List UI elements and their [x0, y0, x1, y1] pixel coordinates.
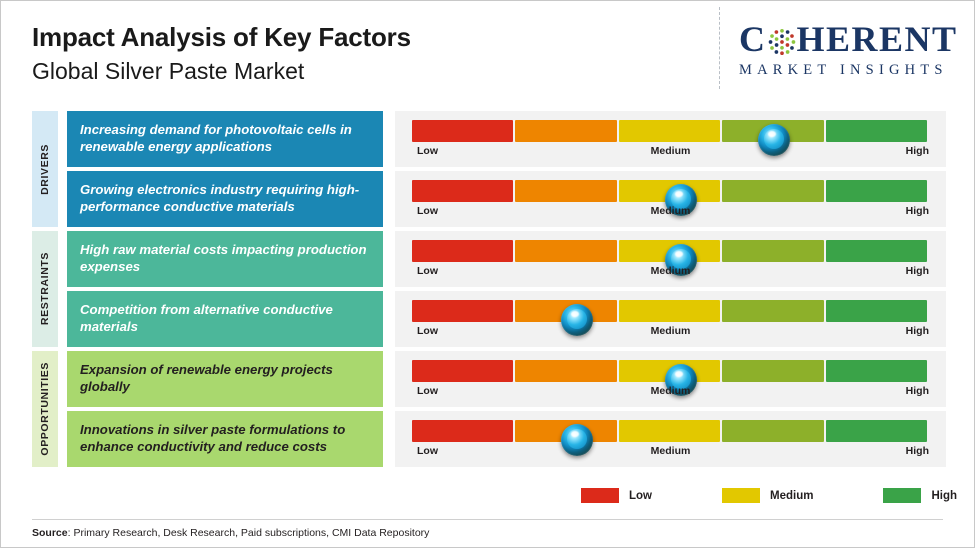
logo-word-rest: HERENT: [797, 21, 958, 57]
factor-box[interactable]: Increasing demand for photovoltaic cells…: [67, 111, 383, 167]
gauge-tick-labels: LowMediumHigh: [412, 205, 929, 221]
factor-text: Growing electronics industry requiring h…: [80, 182, 371, 216]
gauge-segment-0: [412, 360, 513, 382]
gauge-tick-low: Low: [417, 205, 438, 217]
gauge-segment-0: [412, 180, 513, 202]
gauge-segment-1: [515, 360, 616, 382]
category-label: DRIVERS: [39, 144, 51, 195]
logo-tagline: MARKET INSIGHTS: [739, 62, 961, 79]
header-divider: [719, 7, 720, 89]
gauge-tick-low: Low: [417, 325, 438, 337]
factor-box[interactable]: Expansion of renewable energy projects g…: [67, 351, 383, 407]
category-strip-opportunities: OPPORTUNITIES: [32, 351, 58, 467]
legend: Low Medium High: [581, 488, 957, 503]
company-logo: C: [739, 21, 961, 79]
gauge-segment-4: [826, 420, 927, 442]
gauge-segment-0: [412, 420, 513, 442]
gauge-tick-low: Low: [417, 145, 438, 157]
gauge-tick-low: Low: [417, 265, 438, 277]
factor-text: Expansion of renewable energy projects g…: [80, 362, 371, 396]
legend-item-medium: Medium: [722, 488, 813, 503]
gauge-segment-0: [412, 240, 513, 262]
factor-text: Competition from alternative conductive …: [80, 302, 371, 336]
source-prefix: Source: [32, 527, 68, 539]
gauge-tick-labels: LowMediumHigh: [412, 325, 929, 341]
legend-swatch-medium: [722, 488, 760, 503]
factor-box[interactable]: High raw material costs impacting produc…: [67, 231, 383, 287]
gauge-segment-1: [515, 120, 616, 142]
gauge-tick-mid: Medium: [651, 325, 691, 337]
globe-dots-icon: [768, 26, 796, 54]
gauge-segment-0: [412, 120, 513, 142]
factor-box[interactable]: Innovations in silver paste formulations…: [67, 411, 383, 467]
factor-text: Innovations in silver paste formulations…: [80, 422, 371, 456]
gauge-tick-mid: Medium: [651, 445, 691, 457]
impact-gauge: LowMediumHigh: [395, 111, 946, 167]
gauge-segment-1: [515, 240, 616, 262]
gauge-tick-labels: LowMediumHigh: [412, 145, 929, 161]
gauge-tick-mid: Medium: [651, 205, 691, 217]
page-subtitle: Global Silver Paste Market: [32, 58, 692, 84]
source-note: Source: Primary Research, Desk Research,…: [32, 527, 429, 539]
gauge-segment-2: [619, 420, 720, 442]
gauge-tick-mid: Medium: [651, 385, 691, 397]
legend-swatch-low: [581, 488, 619, 503]
gauge-scale: [412, 180, 929, 202]
source-text: : Primary Research, Desk Research, Paid …: [68, 527, 430, 539]
gauge-tick-low: Low: [417, 385, 438, 397]
gauge-segment-3: [722, 180, 823, 202]
gauge-scale: [412, 360, 929, 382]
gauge-segment-2: [619, 300, 720, 322]
gauge-tick-labels: LowMediumHigh: [412, 265, 929, 281]
gauge-tick-mid: Medium: [651, 145, 691, 157]
gauge-segment-4: [826, 180, 927, 202]
legend-label-high: High: [931, 490, 957, 502]
impact-gauge: LowMediumHigh: [395, 351, 946, 407]
gauge-segment-1: [515, 180, 616, 202]
gauge-tick-high: High: [906, 325, 929, 337]
legend-label-medium: Medium: [770, 490, 813, 502]
factor-text: Increasing demand for photovoltaic cells…: [80, 122, 371, 156]
impact-gauge: LowMediumHigh: [395, 231, 946, 287]
footer-divider: [32, 519, 943, 520]
legend-item-high: High: [883, 488, 957, 503]
header: Impact Analysis of Key Factors Global Si…: [32, 23, 692, 85]
gauge-segment-4: [826, 300, 927, 322]
factor-text: High raw material costs impacting produc…: [80, 242, 371, 276]
gauge-scale: [412, 420, 929, 442]
legend-swatch-high: [883, 488, 921, 503]
gauge-tick-mid: Medium: [651, 265, 691, 277]
gauge-scale: [412, 300, 929, 322]
infographic-slide: Impact Analysis of Key Factors Global Si…: [0, 0, 975, 548]
factor-box[interactable]: Growing electronics industry requiring h…: [67, 171, 383, 227]
gauge-segment-4: [826, 360, 927, 382]
gauge-segment-3: [722, 300, 823, 322]
gauge-tick-high: High: [906, 265, 929, 277]
gauge-scale: [412, 240, 929, 262]
category-label: RESTRAINTS: [39, 252, 51, 325]
page-title: Impact Analysis of Key Factors: [32, 23, 692, 51]
logo-wordmark: C: [739, 21, 961, 57]
gauge-segment-3: [722, 360, 823, 382]
gauge-segment-4: [826, 240, 927, 262]
factor-box[interactable]: Competition from alternative conductive …: [67, 291, 383, 347]
gauge-segment-0: [412, 300, 513, 322]
category-label: OPPORTUNITIES: [39, 362, 51, 456]
legend-label-low: Low: [629, 490, 652, 502]
impact-gauge: LowMediumHigh: [395, 411, 946, 467]
category-strip-drivers: DRIVERS: [32, 111, 58, 227]
gauge-segment-2: [619, 120, 720, 142]
gauge-segment-3: [722, 420, 823, 442]
gauge-tick-high: High: [906, 205, 929, 217]
gauge-scale: [412, 120, 929, 142]
gauge-tick-labels: LowMediumHigh: [412, 385, 929, 401]
impact-gauge: LowMediumHigh: [395, 171, 946, 227]
legend-item-low: Low: [581, 488, 652, 503]
logo-letter-c: C: [739, 21, 767, 57]
impact-gauge: LowMediumHigh: [395, 291, 946, 347]
gauge-tick-high: High: [906, 385, 929, 397]
gauge-tick-high: High: [906, 145, 929, 157]
gauge-tick-high: High: [906, 445, 929, 457]
category-strip-restraints: RESTRAINTS: [32, 231, 58, 347]
gauge-tick-low: Low: [417, 445, 438, 457]
gauge-tick-labels: LowMediumHigh: [412, 445, 929, 461]
gauge-segment-3: [722, 240, 823, 262]
gauge-segment-4: [826, 120, 927, 142]
